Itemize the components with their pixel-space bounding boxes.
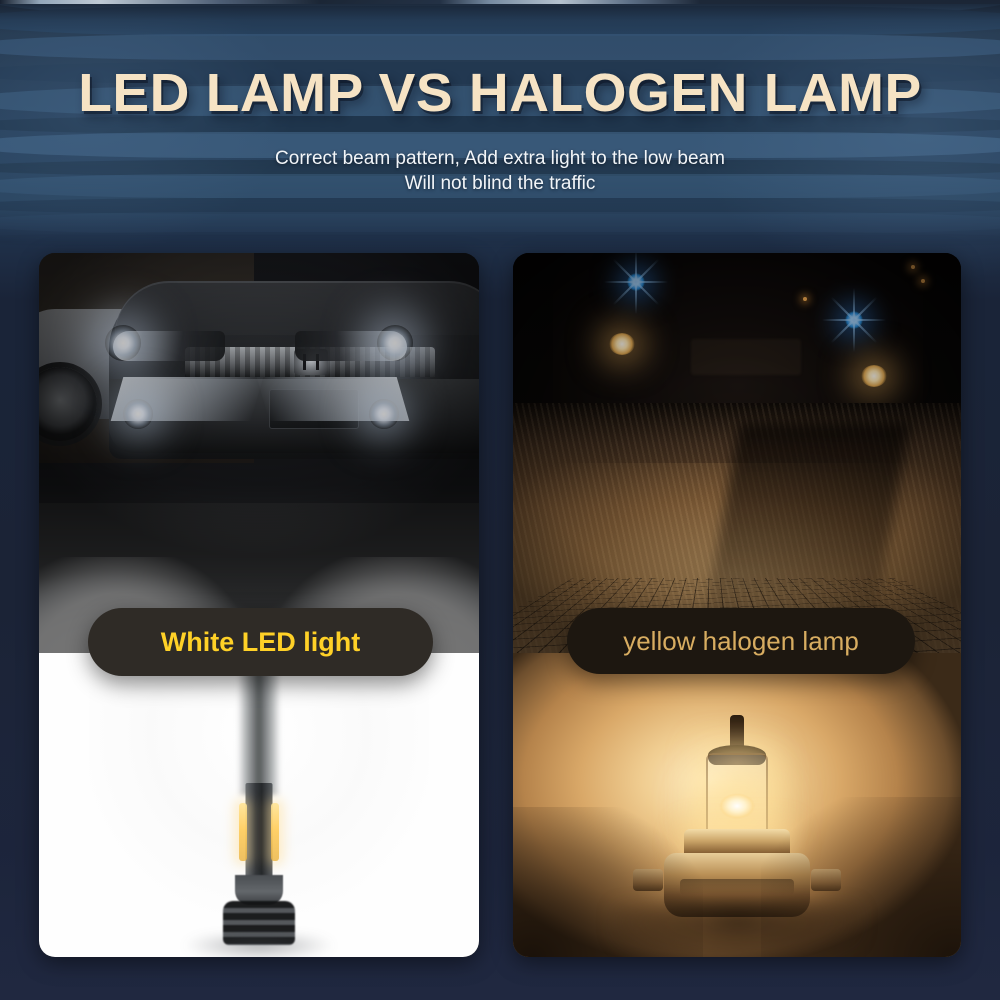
led-headlight-glow-left: [105, 325, 141, 361]
led-night-car-photo: [39, 253, 479, 653]
led-bulb-body: [246, 783, 273, 879]
fog-light-right: [369, 399, 399, 429]
halogen-filament-glow: [719, 793, 755, 819]
halogen-bulb-photo: [513, 653, 961, 957]
car-hood: [115, 281, 479, 335]
comparison-panels: [0, 0, 1000, 1000]
infographic-page: LED LAMP VS HALOGEN LAMP Correct beam pa…: [0, 0, 1000, 1000]
halogen-comparison-panel[interactable]: [513, 253, 961, 957]
led-bulb-photo: [39, 653, 479, 957]
led-comparison-panel[interactable]: [39, 253, 479, 957]
led-bulb-shadow: [184, 935, 334, 957]
halogen-night-road-photo: [513, 253, 961, 653]
led-label-badge[interactable]: White LED light: [88, 608, 433, 676]
photo-vignette: [513, 253, 961, 653]
led-label-text: White LED light: [161, 627, 360, 658]
led-chip-left: [239, 803, 247, 861]
led-headlight-glow-right: [377, 325, 413, 361]
halogen-label-text: yellow halogen lamp: [623, 626, 859, 657]
fog-light-left: [123, 399, 153, 429]
halogen-bulb-shadow: [612, 903, 862, 957]
led-chip-right: [271, 803, 279, 861]
halogen-label-badge[interactable]: yellow halogen lamp: [567, 608, 915, 674]
